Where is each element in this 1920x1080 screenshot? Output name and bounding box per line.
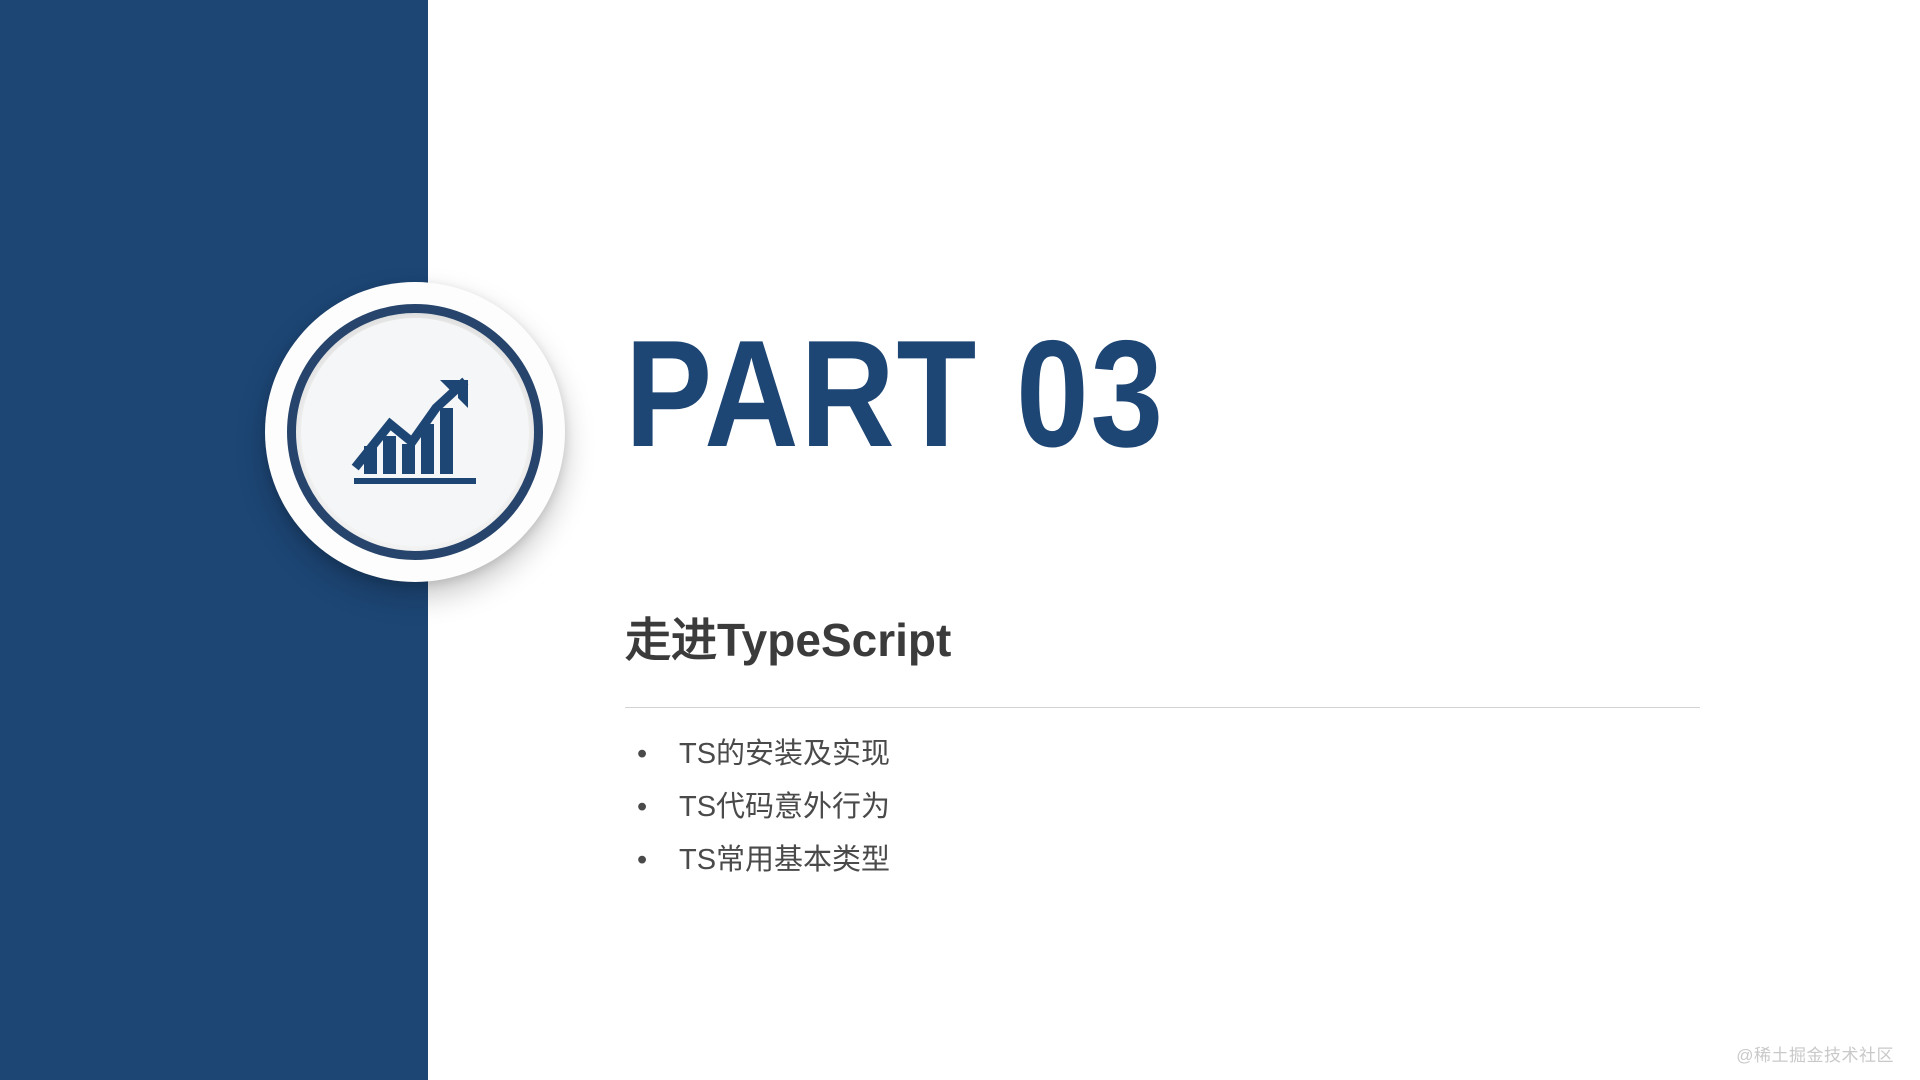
section-subtitle: 走进TypeScript: [625, 613, 951, 668]
list-item-label: TS代码意外行为: [679, 781, 890, 834]
bullet-dot-icon: •: [637, 834, 679, 887]
subtitle-cjk-part: 走进: [625, 614, 717, 666]
badge-inner-circle: [301, 318, 529, 546]
agenda-list: • TS的安装及实现 • TS代码意外行为 • TS常用基本类型: [637, 728, 890, 887]
section-divider: [625, 707, 1700, 708]
list-item: • TS的安装及实现: [637, 728, 890, 781]
list-item-label: TS常用基本类型: [679, 834, 890, 887]
list-item: • TS常用基本类型: [637, 834, 890, 887]
page-title: PART 03: [625, 318, 1165, 470]
list-item: • TS代码意外行为: [637, 781, 890, 834]
bullet-dot-icon: •: [637, 728, 679, 781]
subtitle-latin-part: TypeScript: [717, 614, 951, 666]
section-content: PART 03 走进TypeScript • TS的安装及实现 • TS代码意外…: [625, 0, 1710, 1080]
section-badge: [265, 282, 565, 582]
watermark: @稀土掘金技术社区: [1736, 1041, 1894, 1066]
slide-root: PART 03 走进TypeScript • TS的安装及实现 • TS代码意外…: [0, 0, 1920, 1080]
list-item-label: TS的安装及实现: [679, 728, 890, 781]
bullet-dot-icon: •: [637, 781, 679, 834]
growth-bar-chart-arrow-icon: [350, 372, 480, 492]
